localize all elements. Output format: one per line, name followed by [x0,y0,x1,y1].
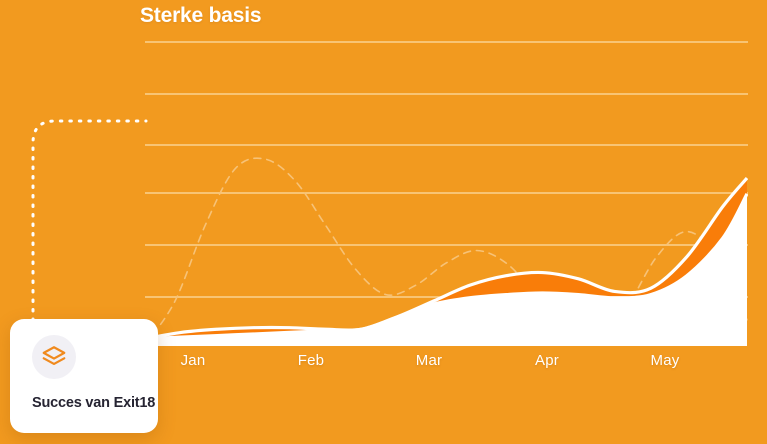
info-card-label: Succes van Exit18 [32,395,155,411]
layers-icon [32,335,76,379]
info-card[interactable]: Succes van Exit18 [10,319,158,433]
dashed-connector [33,121,146,330]
chart-panel: Sterke basis JanFebMarAprMay [0,0,767,444]
series-area-basis [145,194,747,347]
